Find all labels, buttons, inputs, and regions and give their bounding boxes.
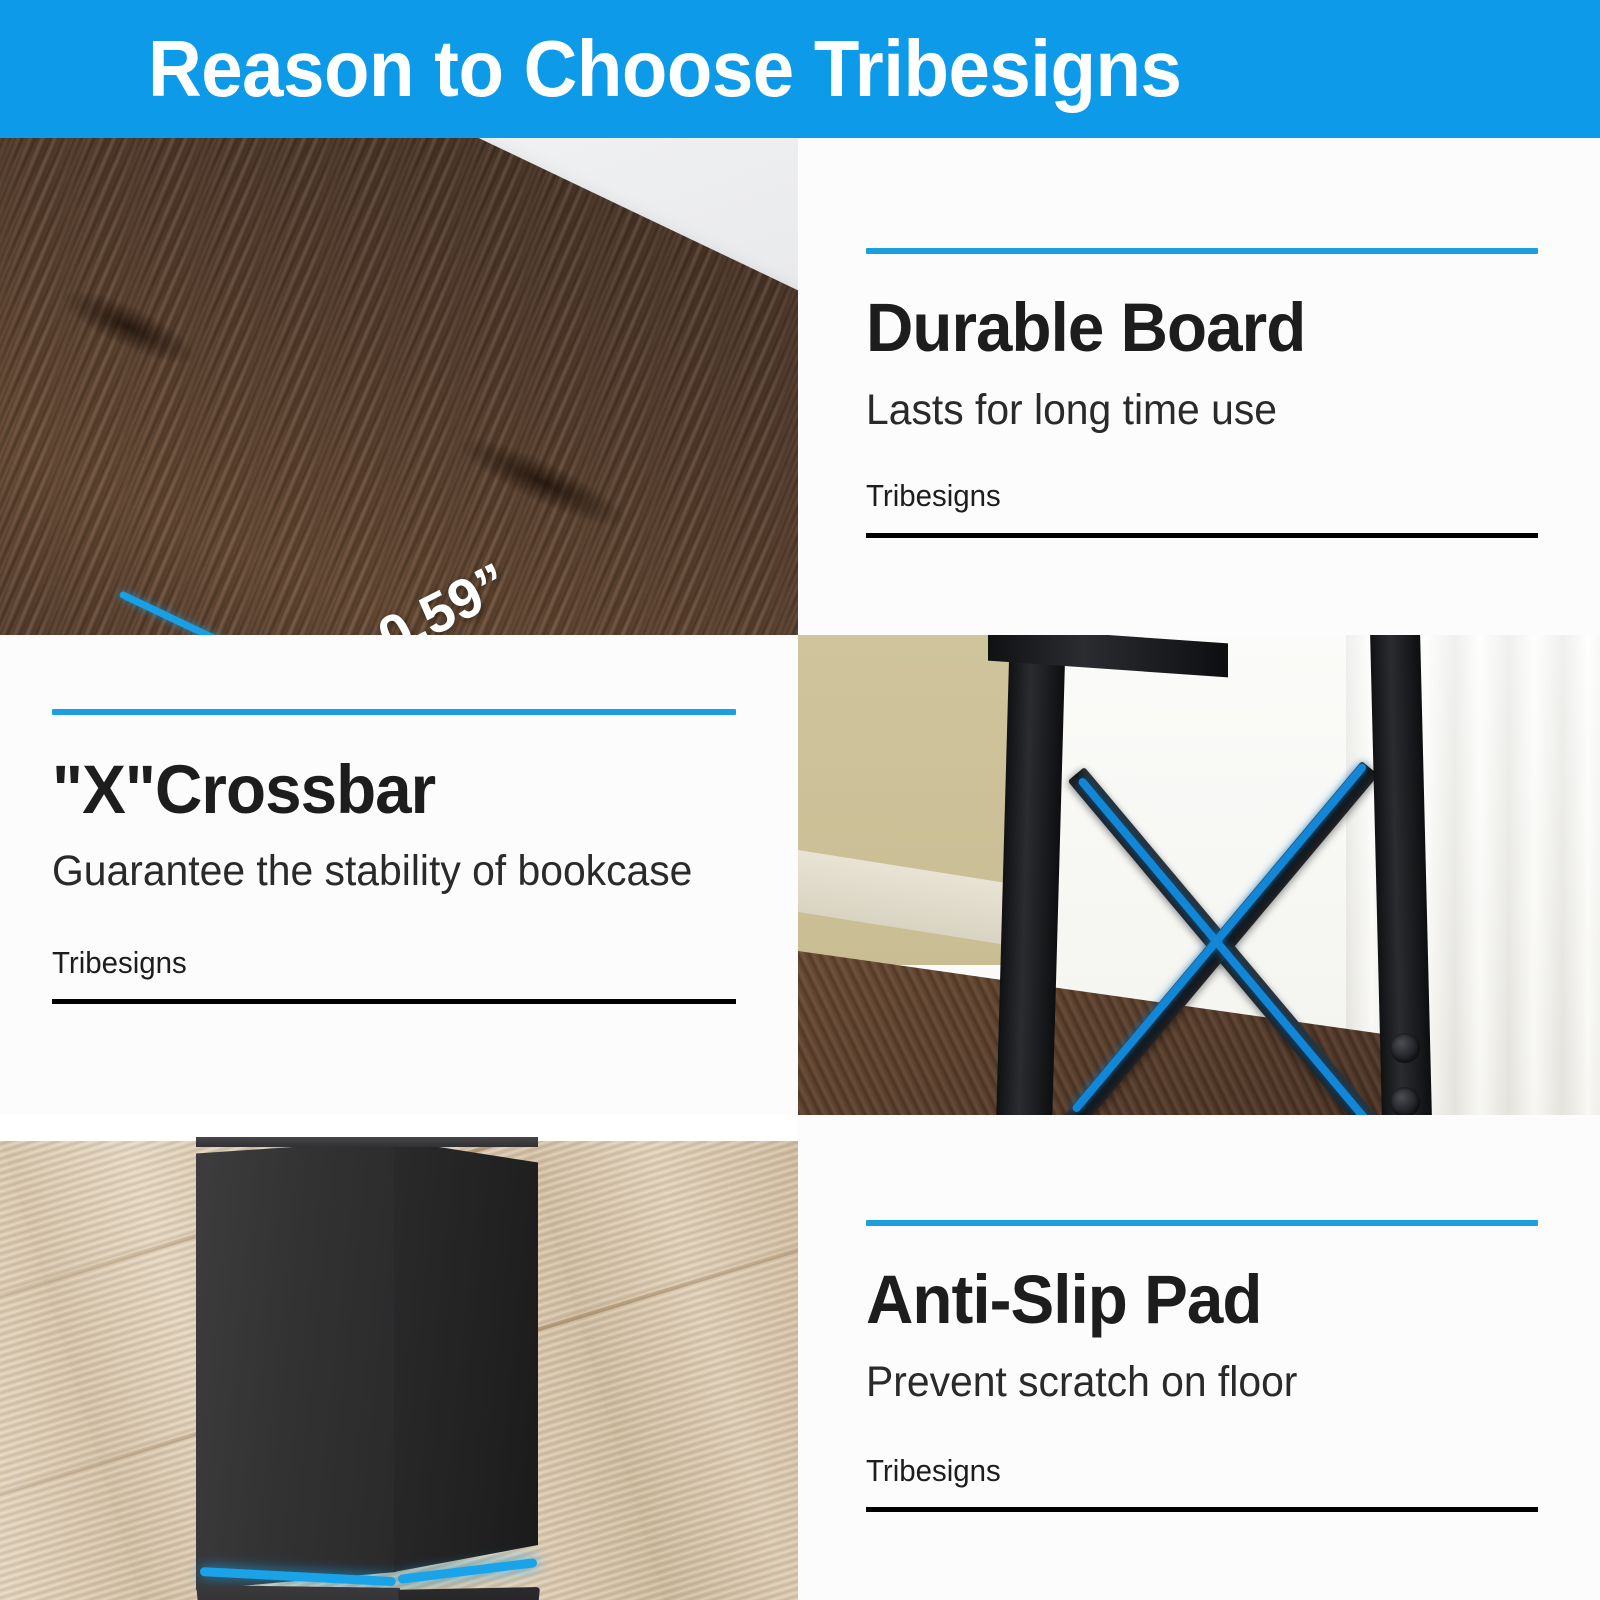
text-panel-x-crossbar: "X"Crossbar Guarantee the stability of b… xyxy=(0,635,798,1115)
brand-label: Tribesigns xyxy=(866,478,1504,514)
wood-knot xyxy=(52,276,205,378)
leg-post-front-face xyxy=(196,1140,396,1590)
feature-subtitle: Prevent scratch on floor xyxy=(866,1358,1504,1407)
feature-subtitle: Guarantee the stability of bookcase xyxy=(52,847,702,896)
leg-post-side-face xyxy=(394,1140,538,1590)
brand-rule xyxy=(52,999,736,1004)
feature-title: Anti-Slip Pad xyxy=(866,1265,1504,1335)
feature-subtitle: Lasts for long time use xyxy=(866,386,1504,435)
feature-title: Durable Board xyxy=(866,293,1504,363)
page-title: Reason to Choose Tribesigns xyxy=(148,23,1181,115)
photo-x-crossbar xyxy=(798,635,1600,1115)
brand-label: Tribesigns xyxy=(52,945,702,981)
infographic-page: Reason to Choose Tribesigns 0.59” xyxy=(0,0,1600,1600)
feature-title: "X"Crossbar xyxy=(52,755,702,825)
header-banner: Reason to Choose Tribesigns xyxy=(0,0,1600,138)
brand-rule xyxy=(866,1507,1538,1512)
photo-anti-slip-pad xyxy=(0,1115,798,1600)
leg-post-top-edge xyxy=(196,1137,538,1147)
wood-knot xyxy=(448,422,638,542)
brand-label: Tribesigns xyxy=(866,1453,1504,1489)
screw-head-upper xyxy=(1390,1033,1420,1063)
accent-rule-top xyxy=(52,709,736,715)
text-panel-anti-slip-pad: Anti-Slip Pad Prevent scratch on floor T… xyxy=(798,1115,1600,1600)
accent-rule-top xyxy=(866,1220,1538,1226)
brand-rule xyxy=(866,533,1538,538)
accent-rule-top xyxy=(866,248,1538,254)
screw-head-lower xyxy=(1390,1087,1420,1115)
photo-durable-board: 0.59” xyxy=(0,138,798,635)
text-panel-durable-board: Durable Board Lasts for long time use Tr… xyxy=(798,138,1600,635)
